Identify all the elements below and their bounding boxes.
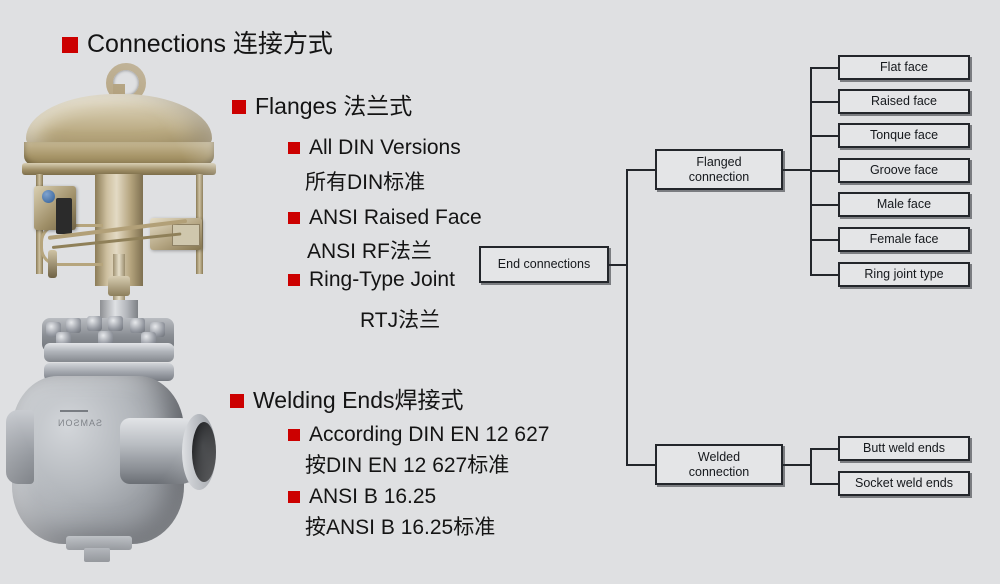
bullet-according-din-en-zh: 按DIN EN 12 627标准: [305, 455, 509, 476]
body-cast-marking: [44, 470, 88, 500]
positioner-knob: [42, 190, 55, 203]
bullet-all-din-versions-zh: 所有DIN标准: [305, 172, 425, 193]
connector-flanged-to-branch: [782, 169, 812, 171]
node-female-face-label: Female face: [870, 232, 939, 247]
square-bullet-icon: [288, 429, 300, 441]
node-welded-connection-label-line2: connection: [689, 465, 749, 480]
node-tonque-face-label: Tonque face: [870, 128, 938, 143]
connector-trunk-to-flanged: [626, 169, 656, 171]
bullet-ansi-raised-face: ANSI Raised Face: [288, 207, 482, 228]
bullet-ring-type-joint-zh: RTJ法兰: [360, 310, 440, 331]
node-ring-joint-type[interactable]: Ring joint type: [838, 262, 970, 287]
square-bullet-icon: [232, 100, 246, 114]
node-end-connections-label: End connections: [498, 257, 590, 272]
bullet-ansi-b-1625-zh-label: 按ANSI B 16.25标准: [305, 517, 495, 538]
air-connector: [48, 250, 57, 278]
square-bullet-icon: [230, 394, 244, 408]
node-groove-face[interactable]: Groove face: [838, 158, 970, 183]
connector-branch-socket-weld: [810, 483, 839, 485]
bullet-welding-ends: Welding Ends焊接式: [230, 389, 464, 412]
valve-base-foot: [84, 548, 110, 562]
valve-left-port: [6, 410, 34, 484]
bullet-connections: Connections 连接方式: [62, 32, 333, 57]
node-flat-face-label: Flat face: [880, 60, 928, 75]
valve-bore-opening: [192, 422, 216, 482]
bullet-ansi-b-1625-zh: 按ANSI B 16.25标准: [305, 517, 495, 538]
node-butt-weld-ends-label: Butt weld ends: [863, 441, 945, 456]
node-flanged-connection-label-line1: Flanged: [696, 155, 741, 170]
node-raised-face-label: Raised face: [871, 94, 937, 109]
bullet-ansi-raised-face-zh-label: ANSI RF法兰: [307, 241, 432, 262]
connector-welded-to-branch: [782, 464, 812, 466]
node-raised-face[interactable]: Raised face: [838, 89, 970, 114]
bullet-according-din-en-zh-label: 按DIN EN 12 627标准: [305, 455, 509, 476]
bullet-ring-type-joint: Ring-Type Joint: [288, 269, 455, 290]
bullet-ansi-b-1625: ANSI B 16.25: [288, 486, 436, 507]
connector-branch-raised-face: [810, 101, 839, 103]
node-socket-weld-ends[interactable]: Socket weld ends: [838, 471, 970, 496]
node-ring-joint-type-label: Ring joint type: [864, 267, 943, 282]
node-socket-weld-ends-label: Socket weld ends: [855, 476, 953, 491]
node-groove-face-label: Groove face: [870, 163, 938, 178]
square-bullet-icon: [288, 142, 300, 154]
square-bullet-icon: [288, 274, 300, 286]
bullet-ansi-raised-face-label: ANSI Raised Face: [309, 207, 482, 228]
connector-branch-groove-face: [810, 170, 839, 172]
connector-branch-ring-joint: [810, 274, 839, 276]
bullet-ansi-raised-face-zh: ANSI RF法兰: [307, 241, 432, 262]
bullet-connections-label: Connections 连接方式: [87, 32, 333, 57]
node-male-face-label: Male face: [877, 197, 931, 212]
bullet-according-din-en-label: According DIN EN 12 627: [309, 424, 549, 445]
node-flanged-connection[interactable]: Flanged connection: [655, 149, 783, 190]
node-welded-connection-label-line1: Welded: [698, 450, 740, 465]
bullet-ansi-b-1625-label: ANSI B 16.25: [309, 486, 436, 507]
square-bullet-icon: [288, 491, 300, 503]
node-end-connections[interactable]: End connections: [479, 246, 609, 283]
flow-direction-arrow: [60, 410, 88, 412]
connector-branch-male-face: [810, 204, 839, 206]
connector-branch-flat-face: [810, 67, 839, 69]
slide-canvas: SAMSON Connections 连接方式 Flanges 法兰式 All …: [0, 0, 1000, 584]
control-valve-photo: SAMSON: [0, 18, 250, 584]
node-flanged-connection-label-line2: connection: [689, 170, 749, 185]
connector-branch-butt-weld: [810, 448, 839, 450]
node-flat-face[interactable]: Flat face: [838, 55, 970, 80]
bullet-all-din-versions-zh-label: 所有DIN标准: [305, 172, 425, 193]
positioner-window: [56, 198, 72, 234]
node-female-face[interactable]: Female face: [838, 227, 970, 252]
bullet-flanges-label: Flanges 法兰式: [255, 95, 412, 118]
bullet-flanges: Flanges 法兰式: [232, 95, 412, 118]
connector-welded-branch-bus: [810, 448, 812, 484]
body-brand-marking: SAMSON: [42, 418, 102, 444]
bullet-all-din-versions-label: All DIN Versions: [309, 137, 461, 158]
connector-branch-tonque-face: [810, 135, 839, 137]
bullet-all-din-versions: All DIN Versions: [288, 137, 461, 158]
square-bullet-icon: [288, 212, 300, 224]
stem-coupling-nut: [108, 276, 130, 296]
connector-root-to-trunk: [607, 264, 628, 266]
bonnet-flange-upper: [44, 343, 174, 362]
bullet-ring-type-joint-label: Ring-Type Joint: [309, 269, 455, 290]
node-tonque-face[interactable]: Tonque face: [838, 123, 970, 148]
node-butt-weld-ends[interactable]: Butt weld ends: [838, 436, 970, 461]
square-bullet-icon: [62, 37, 78, 53]
connector-main-trunk: [626, 169, 628, 465]
bullet-ring-type-joint-zh-label: RTJ法兰: [360, 310, 440, 331]
bullet-welding-ends-label: Welding Ends焊接式: [253, 389, 464, 412]
connector-branch-female-face: [810, 239, 839, 241]
bullet-according-din-en: According DIN EN 12 627: [288, 424, 549, 445]
node-male-face[interactable]: Male face: [838, 192, 970, 217]
node-welded-connection[interactable]: Welded connection: [655, 444, 783, 485]
connector-trunk-to-welded: [626, 464, 656, 466]
